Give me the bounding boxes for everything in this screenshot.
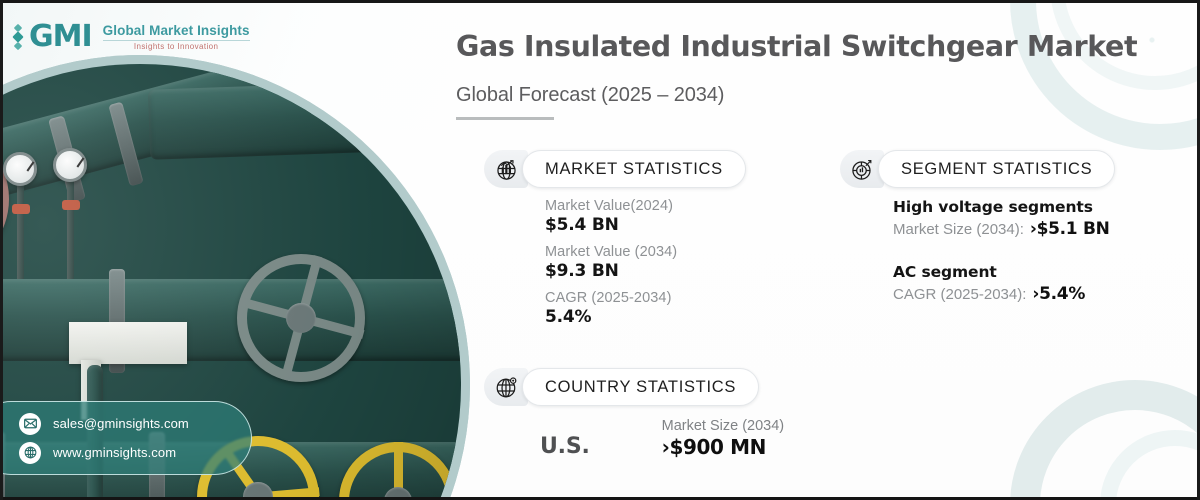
market-statistics-body: Market Value(2024) $5.4 BN Market Value … [545,198,677,336]
segment-name: AC segment [893,263,1110,281]
segment-metric-value: ›$5.1 BN [1030,219,1110,239]
country-statistics-header: COUNTRY STATISTICS [484,368,759,406]
globe-icon [19,442,41,464]
segment-statistics-title: SEGMENT STATISTICS [878,150,1115,188]
envelope-icon [19,413,41,435]
stat-value: $5.4 BN [545,215,677,235]
title-divider [456,117,554,120]
stat-row: CAGR (2025-2034) 5.4% [545,290,677,327]
segment-metric-label: CAGR (2025-2034): [893,286,1026,303]
country-metric: Market Size (2034) ›$900 MN [662,418,785,459]
segment-item: AC segment CAGR (2025-2034): ›5.4% [893,263,1110,304]
segment-metric-value: ›5.4% [1032,284,1085,304]
top-border [0,0,1200,3]
stat-value: 5.4% [545,307,677,327]
stat-row: Market Value(2024) $5.4 BN [545,198,677,235]
logo-diamond-icon [14,25,22,49]
brand-name: Global Market Insights [103,23,250,38]
page-subtitle: Global Forecast (2025 – 2034) [456,84,724,107]
contact-pill: sales@gminsights.com www.gminsights.com [0,401,252,475]
contact-website-row[interactable]: www.gminsights.com [19,442,251,464]
stat-row: Market Value (2034) $9.3 BN [545,244,677,281]
country-metric-value: ›$900 MN [662,435,785,459]
stat-value: $9.3 BN [545,261,677,281]
segment-statistics-header: SEGMENT STATISTICS [840,150,1115,188]
logo-mark-text: GMI [29,22,92,52]
logo-divider [103,40,250,41]
stat-label: CAGR (2025-2034) [545,290,677,306]
segment-metric-label: Market Size (2034): [893,221,1024,238]
segment-item: High voltage segments Market Size (2034)… [893,198,1110,239]
segment-statistics-body: High voltage segments Market Size (2034)… [893,198,1110,304]
stat-label: Market Value(2024) [545,198,677,214]
country-statistics-title: COUNTRY STATISTICS [522,368,759,406]
brand-tagline: Insights to Innovation [103,42,250,51]
country-statistics-body: U.S. Market Size (2034) ›$900 MN [540,418,784,459]
left-border [0,0,3,500]
infographic-page: GMI Global Market Insights Insights to I… [0,0,1200,500]
segment-name: High voltage segments [893,198,1110,216]
contact-website: www.gminsights.com [53,445,176,460]
country-name: U.S. [540,434,590,459]
contact-email-row[interactable]: sales@gminsights.com [19,413,251,435]
market-statistics-header: MARKET STATISTICS [484,150,746,188]
brand-logo[interactable]: GMI Global Market Insights Insights to I… [14,22,250,52]
market-statistics-title: MARKET STATISTICS [522,150,746,188]
contact-email: sales@gminsights.com [53,416,189,431]
stat-label: Market Value (2034) [545,244,677,260]
country-metric-label: Market Size (2034) [662,418,785,434]
page-title: Gas Insulated Industrial Switchgear Mark… [456,30,1137,63]
logo-wordmark: Global Market Insights Insights to Innov… [103,23,250,51]
